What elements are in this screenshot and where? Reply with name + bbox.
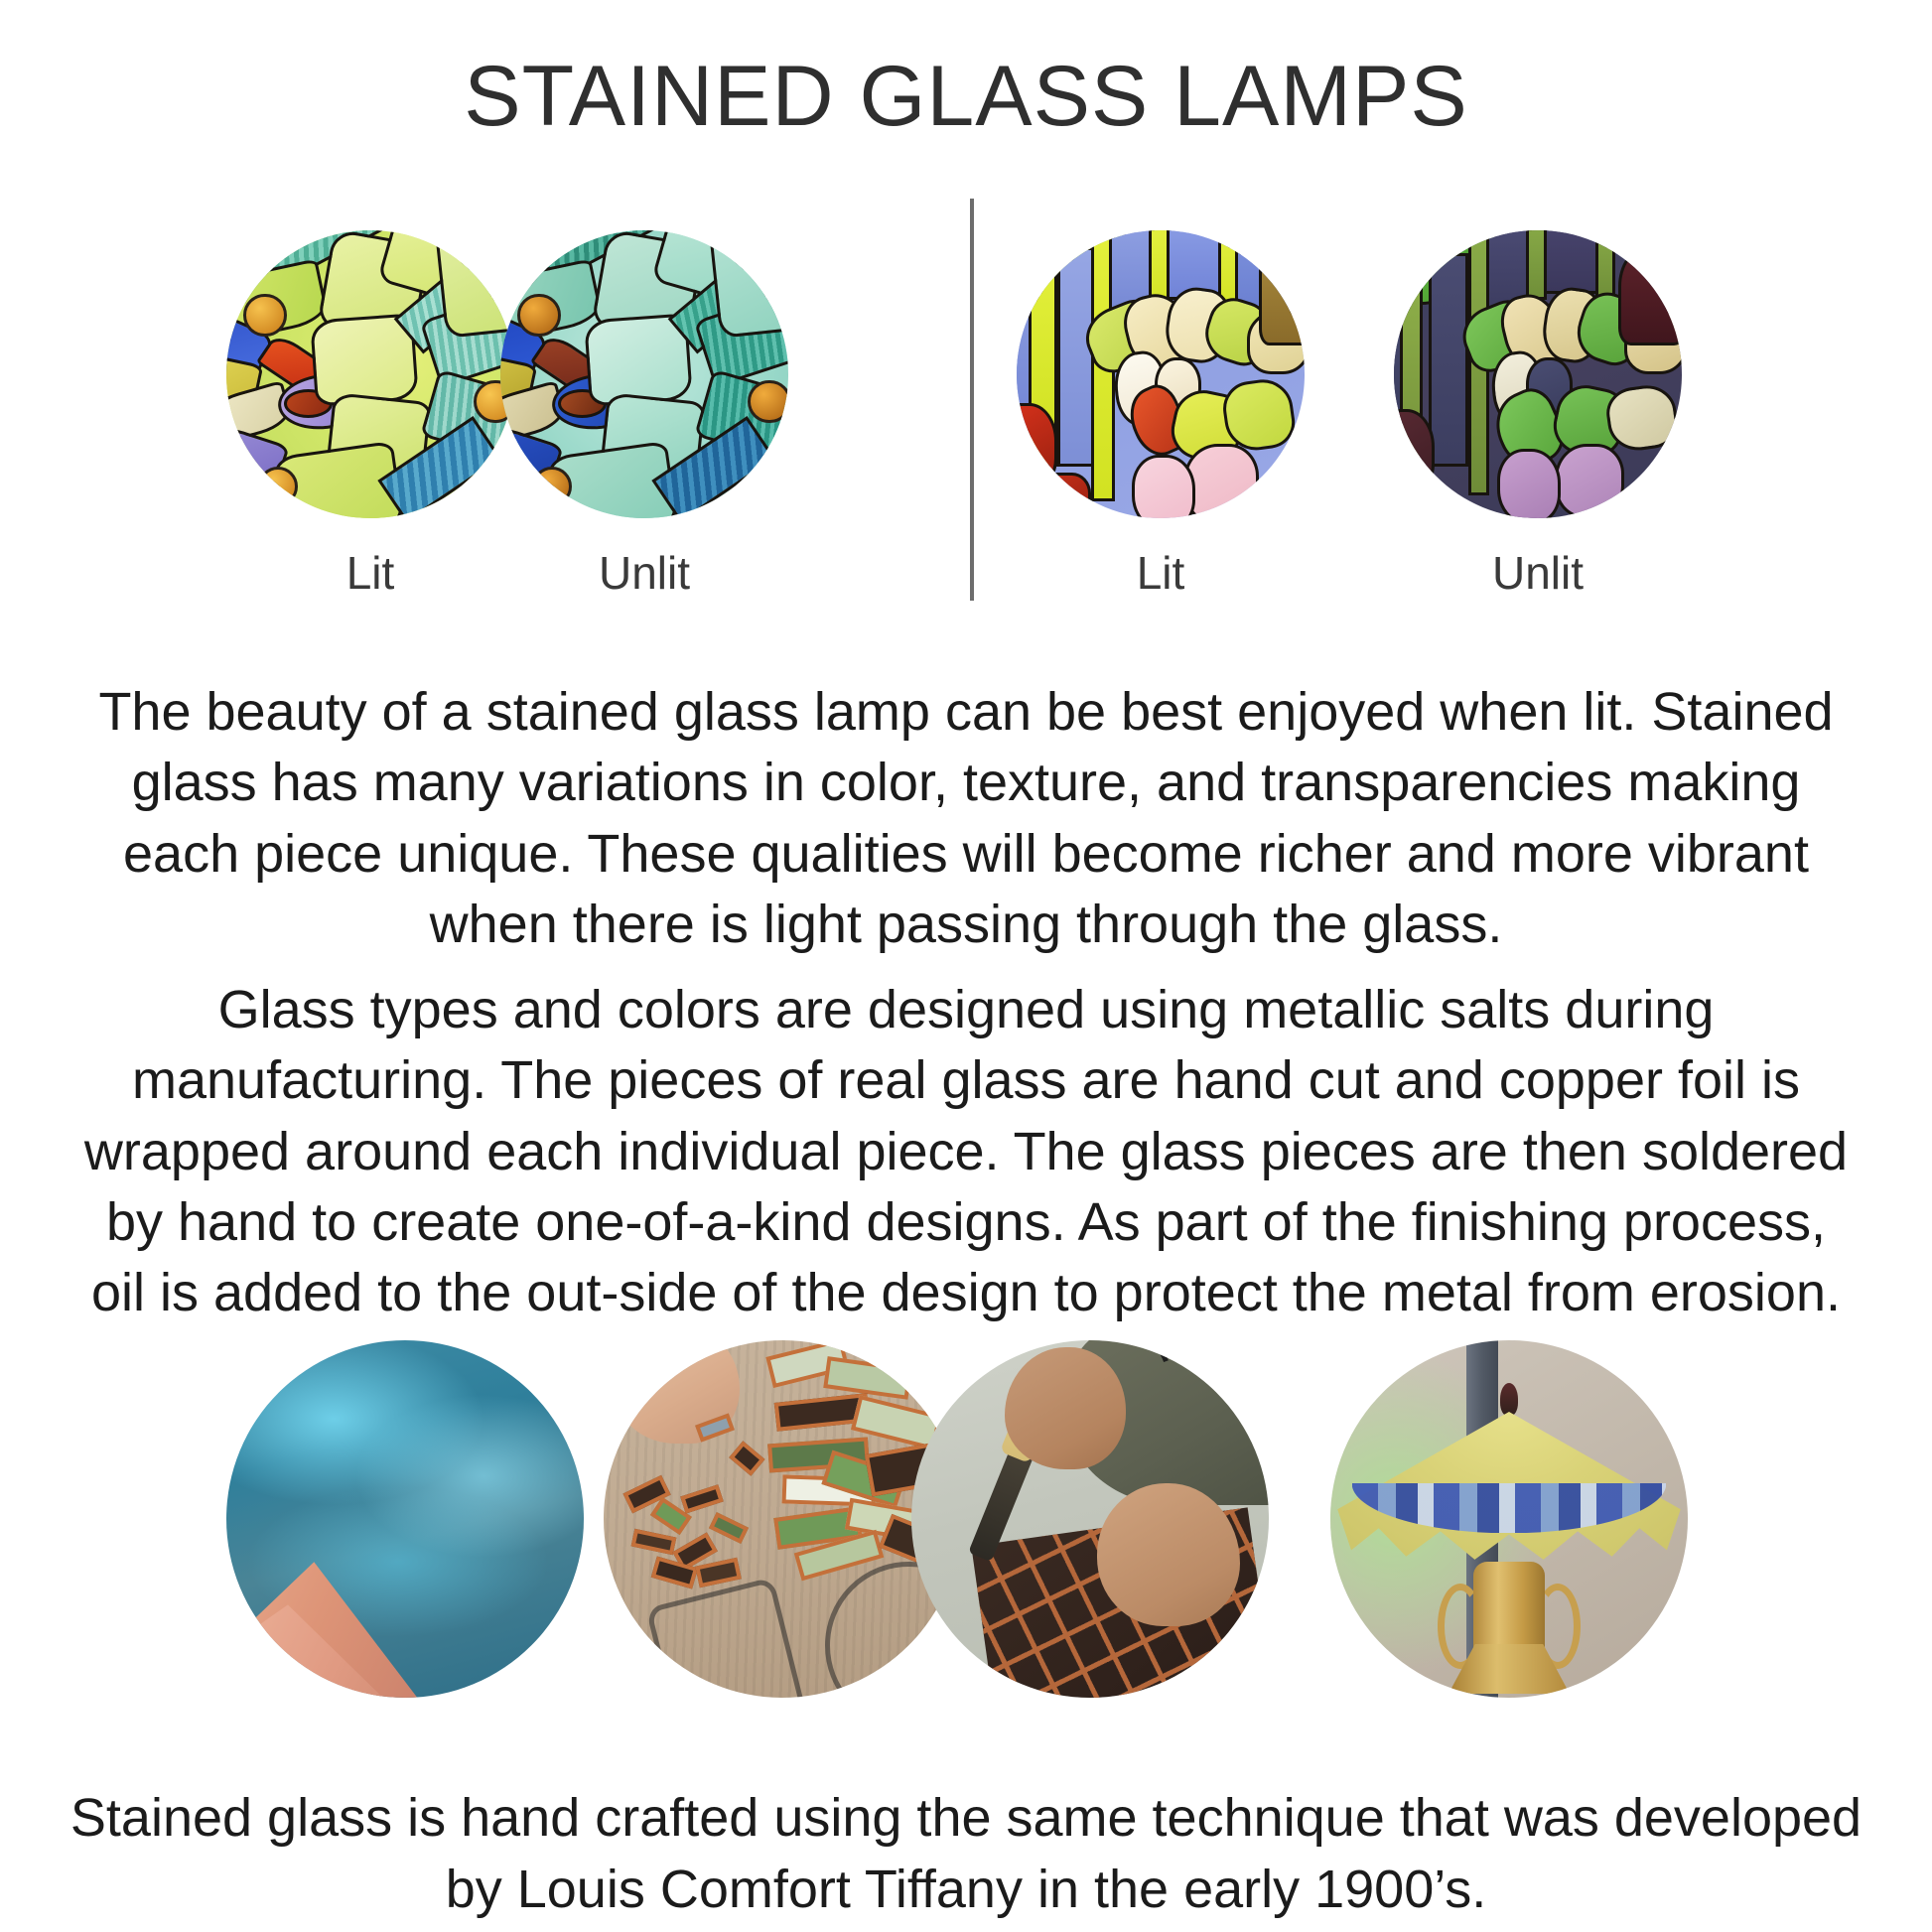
photo-copper-foiling (604, 1340, 961, 1698)
process-paragraph: Glass types and colors are designed usin… (72, 975, 1860, 1328)
photo-hand-soldering (911, 1340, 1269, 1698)
footer-caption: Stained glass is hand crafted using the … (63, 1782, 1869, 1926)
photo-raw-glass-sheets (226, 1340, 584, 1698)
swatch-label-geometric-lit: Lit (226, 546, 514, 600)
lit-unlit-comparison: Lit (0, 199, 1932, 616)
swatch-label-floral-lit: Lit (1017, 546, 1305, 600)
page-title: STAINED GLASS LAMPS (0, 48, 1932, 146)
swatch-label-floral-unlit: Unlit (1394, 546, 1682, 600)
swatch-label-geometric-unlit: Unlit (500, 546, 788, 600)
swatch-floral-unlit (1394, 230, 1682, 518)
swatch-floral-lit (1017, 230, 1305, 518)
photo-finished-lamp (1330, 1340, 1688, 1698)
swatch-geometric-unlit (500, 230, 788, 518)
comparison-circle-row: Lit (0, 199, 1932, 616)
swatch-geometric-lit (226, 230, 514, 518)
process-photo-row (0, 1340, 1932, 1718)
intro-paragraph: The beauty of a stained glass lamp can b… (72, 677, 1860, 960)
